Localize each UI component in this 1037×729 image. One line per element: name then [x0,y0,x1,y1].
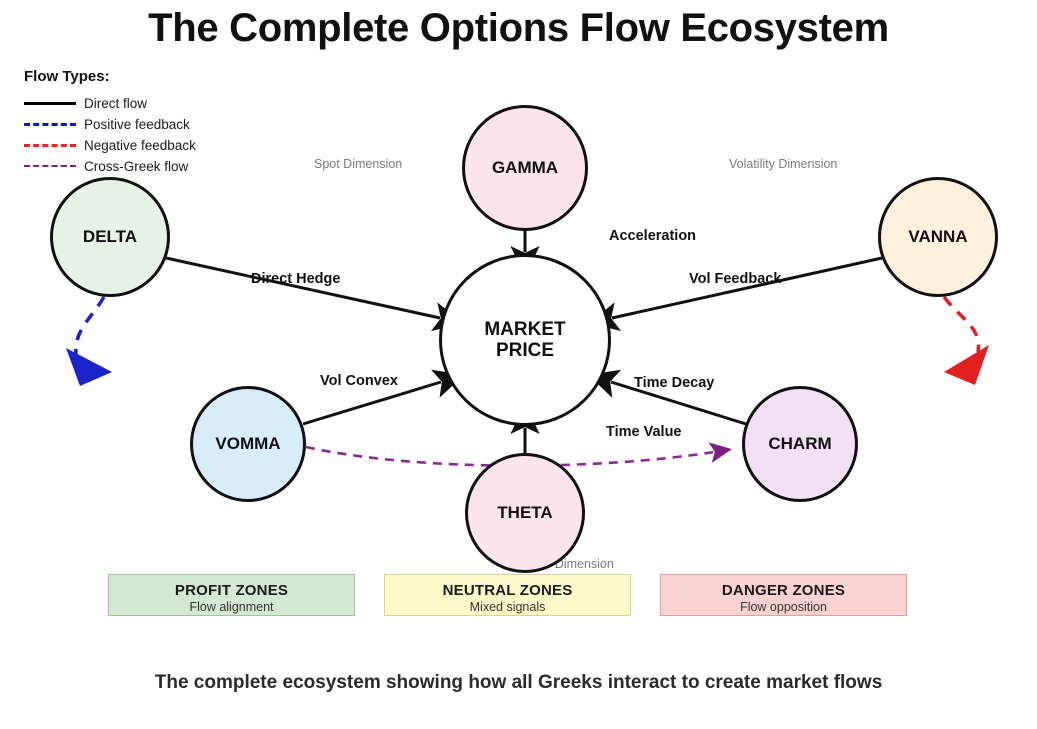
edge-label-time-value: Time Value [606,424,682,440]
legend-item-cross-greek-flow: Cross-Greek flow [24,156,196,176]
legend-line-icon-solid [24,102,76,105]
zone-title: NEUTRAL ZONES [443,582,573,599]
zone-subtitle: Flow opposition [740,600,827,614]
node-market-price[interactable]: MARKET PRICE [439,254,611,426]
edge-label-vol-feedback: Vol Feedback [689,271,781,287]
diagram-canvas: The Complete Options Flow Ecosystem Flow… [0,0,1037,729]
node-delta[interactable]: DELTA [50,177,170,297]
node-label: VOMMA [215,434,280,453]
node-label: DELTA [83,227,137,246]
edge-label-acceleration: Acceleration [609,228,696,244]
edge-label-direct-hedge: Direct Hedge [251,271,340,287]
zone-title: DANGER ZONES [722,582,845,599]
figure-caption: The complete ecosystem showing how all G… [0,672,1037,694]
node-label: THETA [497,503,552,522]
dimension-label-volatility: Volatility Dimension [729,157,837,171]
zone-subtitle: Mixed signals [470,600,546,614]
zone-neutral[interactable]: NEUTRAL ZONES Mixed signals [384,574,631,616]
node-label-line2: PRICE [496,340,554,361]
zone-profit[interactable]: PROFIT ZONES Flow alignment [108,574,355,616]
page-title: The Complete Options Flow Ecosystem [0,6,1037,51]
node-vanna[interactable]: VANNA [878,177,998,297]
legend-item-negative-feedback: Negative feedback [24,135,196,155]
edge-delta-positive-feedback [76,297,104,355]
legend-item-label: Direct flow [84,96,147,111]
legend-line-icon-dashed-blue [24,123,76,126]
zone-danger[interactable]: DANGER ZONES Flow opposition [660,574,907,616]
edge-vanna-to-market [612,258,882,318]
zone-title: PROFIT ZONES [175,582,288,599]
legend-item-label: Positive feedback [84,117,190,132]
node-label-line1: MARKET [484,319,565,340]
zone-subtitle: Flow alignment [189,600,273,614]
edge-vanna-negative-feedback [944,297,979,352]
node-label: GAMMA [492,158,558,177]
legend-item-label: Negative feedback [84,138,196,153]
legend-item-direct-flow: Direct flow [24,93,196,113]
arrowhead-red-icon [944,345,989,385]
legend-heading: Flow Types: [24,68,196,85]
legend: Flow Types: Direct flow Positive feedbac… [24,68,196,177]
arrowhead-blue-icon [66,348,112,386]
node-gamma[interactable]: GAMMA [462,105,588,231]
edge-label-time-decay: Time Decay [634,375,714,391]
legend-line-icon-dashed-purple [24,165,76,167]
edge-delta-to-market [166,258,440,318]
legend-item-label: Cross-Greek flow [84,159,188,174]
node-theta[interactable]: THETA [465,453,585,573]
edge-label-vol-convex: Vol Convex [320,373,398,389]
node-label: VANNA [908,227,967,246]
node-vomma[interactable]: VOMMA [190,386,306,502]
node-charm[interactable]: CHARM [742,386,858,502]
legend-item-positive-feedback: Positive feedback [24,114,196,134]
dimension-label-spot: Spot Dimension [314,157,402,171]
legend-line-icon-dashed-red [24,144,76,147]
node-label: CHARM [768,434,831,453]
